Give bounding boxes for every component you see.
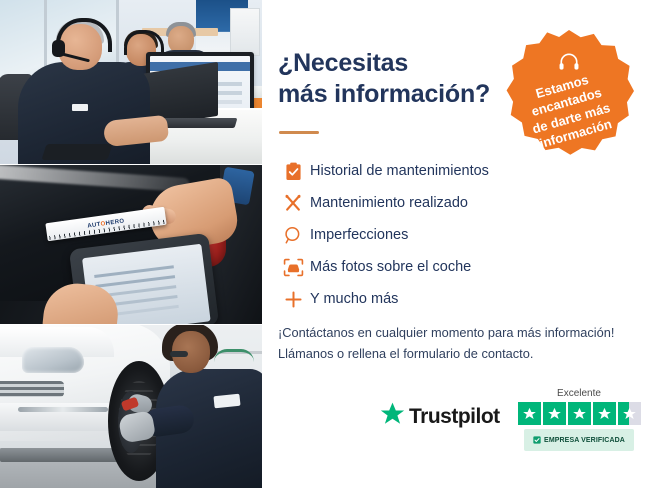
tools-crossed-icon [276, 193, 310, 213]
star-half-icon [618, 402, 641, 425]
feature-list: Historial de mantenimientos Mantenimient… [276, 155, 632, 315]
rating-label: Excelente [516, 388, 642, 399]
feature-label: Imperfecciones [310, 227, 408, 243]
feature-item-maintenance-done: Mantenimiento realizado [276, 187, 632, 219]
starburst-badge: Estamos encantados de darte más informac… [504, 30, 634, 160]
feature-label: Mantenimiento realizado [310, 195, 468, 211]
workshop-photo [0, 325, 262, 488]
clipboard-check-icon [276, 162, 310, 181]
inspection-photo: AUTOHERO [0, 165, 262, 324]
trustpilot-rating: Excelente [516, 388, 642, 451]
feature-item-imperfections: Imperfecciones [276, 219, 632, 251]
check-square-icon [533, 431, 541, 449]
star-icon [518, 402, 541, 425]
feature-item-maintenance-history: Historial de mantenimientos [276, 155, 632, 187]
star-icon [568, 402, 591, 425]
content-panel: ¿Necesitas más información? Estamos enca… [262, 0, 650, 488]
page-title: ¿Necesitas más información? [278, 48, 528, 109]
trustpilot-star-icon [380, 402, 405, 431]
ruler-logo-suffix: HERO [105, 218, 125, 227]
feature-label: Y mucho más [310, 291, 398, 307]
promo-banner: AUTOHERO [0, 0, 650, 488]
star-icon [593, 402, 616, 425]
feature-label: Historial de mantenimientos [310, 163, 489, 179]
photo-collage: AUTOHERO [0, 0, 262, 488]
plus-icon [276, 290, 310, 309]
headline-line-1: ¿Necesitas [278, 48, 528, 79]
magnifier-icon [276, 226, 310, 245]
ruler-logo-prefix: AUT [87, 222, 101, 230]
headline-accent-rule [279, 131, 319, 134]
feature-item-much-more: Y mucho más [276, 283, 632, 315]
star-rating [516, 402, 642, 425]
paragraph-line-1: ¡Contáctanos en cualquier momento para m… [278, 322, 634, 343]
feature-label: Más fotos sobre el coche [310, 259, 471, 275]
trustpilot-wordmark: Trustpilot [409, 405, 500, 429]
headline-line-2: más información? [278, 79, 528, 110]
star-icon [543, 402, 566, 425]
verified-badge: EMPRESA VERIFICADA [524, 429, 634, 451]
trustpilot-logo[interactable]: Trustpilot [380, 402, 500, 431]
contact-paragraph: ¡Contáctanos en cualquier momento para m… [278, 322, 634, 364]
camera-frame-car-icon [276, 258, 310, 277]
trustpilot-widget[interactable]: Trustpilot Excelente [380, 388, 642, 450]
feature-item-more-photos: Más fotos sobre el coche [276, 251, 632, 283]
paragraph-line-2: Llámanos o rellena el formulario de cont… [278, 343, 634, 364]
call-center-photo [0, 0, 262, 164]
verified-label: EMPRESA VERIFICADA [544, 437, 625, 444]
